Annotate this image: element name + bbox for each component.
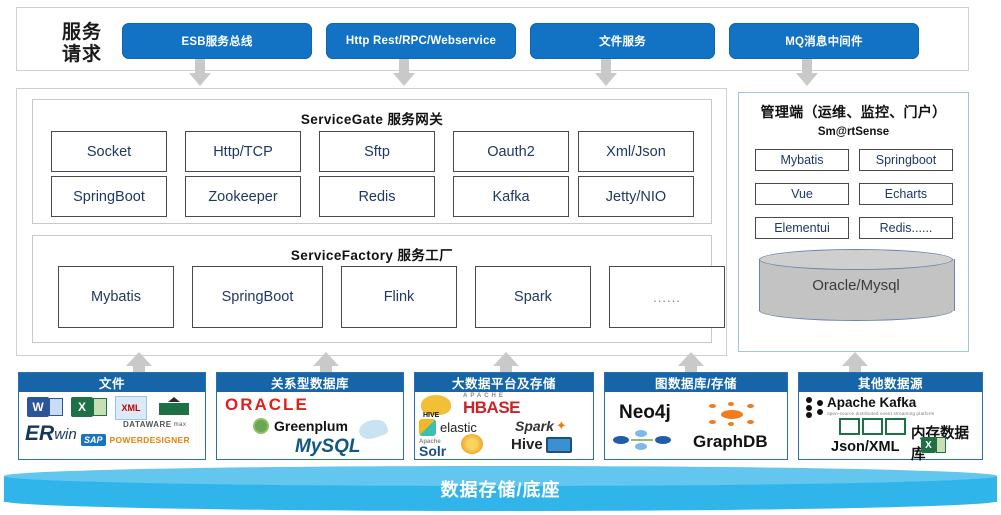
management-subtitle: Sm@rtSense <box>739 126 968 138</box>
data-source-other[interactable]: 其他数据源 Apache Kafka open-source distribut… <box>798 372 983 460</box>
service-button-file-service[interactable]: 文件服务 <box>530 23 715 59</box>
data-source-relational-db[interactable]: 关系型数据库 ORACLE Greenplum MySQL <box>216 372 404 460</box>
data-source-other-title: 其他数据源 <box>799 373 982 392</box>
data-source-graph-db-title: 图数据库/存储 <box>605 373 787 392</box>
mgmt-cell-echarts[interactable]: Echarts <box>859 183 953 205</box>
service-button-mq[interactable]: MQ消息中间件 <box>729 23 919 59</box>
data-source-bigdata-body: HIVE APACHE HBASE elastic Spark ✦ Apache… <box>415 392 593 459</box>
datawarehouse-logo: DATAWARE max <box>123 420 186 429</box>
gate-cell-http-tcp[interactable]: Http/TCP <box>185 131 301 172</box>
database-label: Oracle/Mysql <box>759 249 953 321</box>
down-arrow-esb <box>189 59 211 86</box>
gate-cell-kafka[interactable]: Kafka <box>453 176 569 217</box>
data-source-graph-db[interactable]: 图数据库/存储 Neo4j <box>604 372 788 460</box>
factory-cell-spark[interactable]: Spark <box>475 266 591 328</box>
mgmt-cell-elementui[interactable]: Elementui <box>755 217 849 239</box>
factory-cell-flink[interactable]: Flink <box>341 266 457 328</box>
service-gate-group: ServiceGate 服务网关 Socket Http/TCP Sftp Oa… <box>32 99 712 224</box>
gate-cell-socket[interactable]: Socket <box>51 131 167 172</box>
platform-panel: ServiceGate 服务网关 Socket Http/TCP Sftp Oa… <box>16 88 727 356</box>
service-button-http-rest[interactable]: Http Rest/RPC/Webservice <box>326 23 516 59</box>
factory-cell-mybatis[interactable]: Mybatis <box>58 266 174 328</box>
erwin-logo: ER win <box>25 422 77 446</box>
hive-logo: Hive <box>511 436 572 453</box>
gate-cell-springboot[interactable]: SpringBoot <box>51 176 167 217</box>
base-platform: 数据存储/底座 <box>4 466 997 512</box>
mysql-logo: MySQL <box>295 436 360 458</box>
gate-cell-xml-json[interactable]: Xml/Json <box>578 131 694 172</box>
service-request-band: 服务 请求 ESB服务总线 Http Rest/RPC/Webservice 文… <box>16 7 969 71</box>
gate-cell-zookeeper[interactable]: Zookeeper <box>185 176 301 217</box>
down-arrow-mq <box>796 59 818 86</box>
spark-logo: Spark ✦ <box>515 418 567 434</box>
hbase-logo: APACHE HBASE <box>463 393 520 418</box>
hadoop-elephant-icon: HIVE <box>421 395 451 415</box>
mgmt-cell-vue[interactable]: Vue <box>755 183 849 205</box>
service-button-esb[interactable]: ESB服务总线 <box>122 23 312 59</box>
neo4j-graph-icon <box>613 430 673 450</box>
green-file-icon <box>159 397 189 415</box>
management-panel: 管理端（运维、监控、门户） Sm@rtSense Mybatis Springb… <box>738 92 969 352</box>
excel-icon: X <box>71 397 107 417</box>
mgmt-cell-mybatis[interactable]: Mybatis <box>755 149 849 171</box>
database-cylinder: Oracle/Mysql <box>759 249 953 321</box>
kafka-logo-text: Apache Kafka open-source distributed eve… <box>827 395 934 416</box>
json-xml-label: Json/XML <box>831 439 899 455</box>
data-source-other-body: Apache Kafka open-source distributed eve… <box>799 392 982 459</box>
service-request-label-line1: 服务 <box>51 22 113 44</box>
factory-cell-more[interactable]: ...... <box>609 266 725 328</box>
neo4j-logo: Neo4j <box>619 402 671 424</box>
data-source-relational-db-title: 关系型数据库 <box>217 373 403 392</box>
architecture-diagram: 服务 请求 ESB服务总线 Http Rest/RPC/Webservice 文… <box>0 0 1001 515</box>
mgmt-cell-redis[interactable]: Redis...... <box>859 217 953 239</box>
sap-powerdesigner-logo: SAP POWERDESIGNER <box>81 434 190 446</box>
graphdb-label: GraphDB <box>693 432 768 452</box>
base-label: 数据存储/底座 <box>4 466 997 512</box>
data-source-bigdata-title: 大数据平台及存储 <box>415 373 593 392</box>
word-icon: W <box>27 397 63 417</box>
service-gate-title: ServiceGate 服务网关 <box>33 108 711 128</box>
service-request-label-line2: 请求 <box>51 44 113 66</box>
memory-db-icon <box>839 418 906 435</box>
data-source-files[interactable]: 文件 W X XML <box>18 372 206 460</box>
gate-cell-jetty-nio[interactable]: Jetty/NIO <box>578 176 694 217</box>
excel-small-icon: X <box>921 437 946 453</box>
service-request-label: 服务 请求 <box>51 22 113 66</box>
oracle-logo: ORACLE <box>225 395 309 415</box>
gate-cell-oauth2[interactable]: Oauth2 <box>453 131 569 172</box>
service-factory-title: ServiceFactory 服务工厂 <box>33 244 711 264</box>
data-source-graph-db-body: Neo4j GraphDB <box>605 392 787 459</box>
solr-logo: Apache Solr <box>419 439 446 459</box>
gate-cell-redis[interactable]: Redis <box>319 176 435 217</box>
gate-cell-sftp[interactable]: Sftp <box>319 131 435 172</box>
solr-sun-icon <box>461 434 483 454</box>
data-source-bigdata[interactable]: 大数据平台及存储 HIVE APACHE HBASE elastic Spark… <box>414 372 594 460</box>
greenplum-logo: Greenplum <box>253 418 348 434</box>
xml-icon: XML <box>115 396 147 420</box>
factory-cell-springboot[interactable]: SpringBoot <box>192 266 323 328</box>
mgmt-cell-springboot[interactable]: Springboot <box>859 149 953 171</box>
management-title: 管理端（运维、监控、门户） <box>739 102 968 122</box>
data-source-files-body: W X XML ER win <box>19 392 205 459</box>
down-arrow-http-rest <box>393 59 415 86</box>
down-arrow-file-service <box>595 59 617 86</box>
graphdb-burst-icon <box>707 402 757 426</box>
data-source-relational-db-body: ORACLE Greenplum MySQL <box>217 392 403 459</box>
service-factory-group: ServiceFactory 服务工厂 Mybatis SpringBoot F… <box>32 235 712 343</box>
data-source-files-title: 文件 <box>19 373 205 392</box>
dolphin-icon <box>357 416 389 442</box>
kafka-icon <box>806 397 824 417</box>
